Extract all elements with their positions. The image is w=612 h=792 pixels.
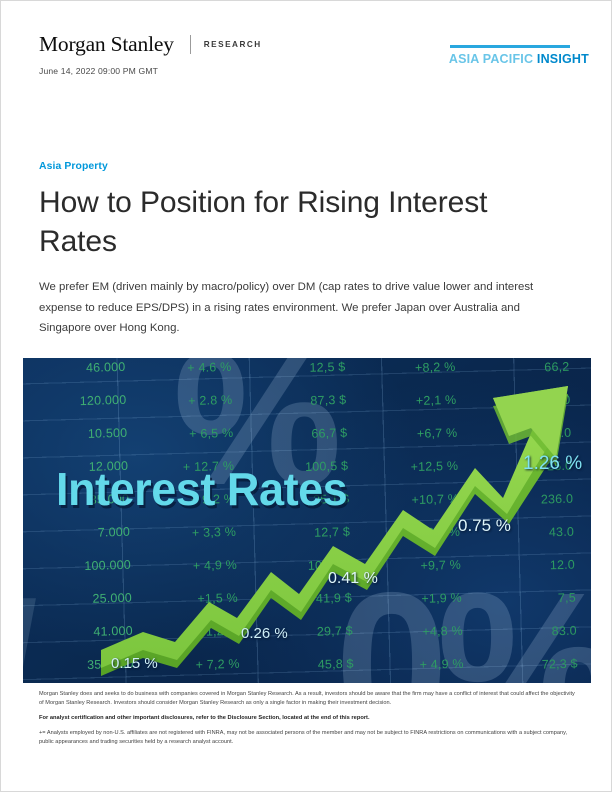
title-block: Asia Property How to Position for Rising…	[39, 161, 571, 338]
abstract-summary: We prefer EM (driven mainly by macro/pol…	[39, 277, 567, 338]
hero-headline: Interest Rates	[56, 466, 347, 512]
insight-label-region: ASIA PACIFIC	[449, 52, 533, 66]
publish-date: June 14, 2022 09:00 PM GMT	[39, 66, 589, 76]
rate-label-1-26: 1.26 %	[523, 453, 582, 475]
disclaimer-paragraph-1: Morgan Stanley does and seeks to do busi…	[39, 690, 579, 708]
rate-label-0-15: 0.15 %	[111, 655, 158, 672]
report-cover-page: Morgan Stanley RESEARCH June 14, 2022 09…	[0, 0, 612, 792]
rate-label-0-75: 0.75 %	[458, 516, 511, 536]
sector-eyebrow: Asia Property	[39, 161, 571, 172]
insight-badge: ASIA PACIFIC INSIGHT	[449, 45, 589, 66]
insight-accent-bar	[450, 45, 570, 48]
rate-label-0-26: 0.26 %	[241, 625, 288, 642]
footer-disclaimer: Morgan Stanley does and seeks to do busi…	[39, 690, 579, 753]
brand-divider-rule	[190, 35, 191, 54]
hero-image: % / 0% 46.000120.00010.50012.00035.0007.…	[23, 358, 591, 683]
page-title: How to Position for Rising Interest Rate…	[39, 184, 559, 261]
brand-sub-label: RESEARCH	[204, 40, 262, 49]
disclaimer-analyst-certification: For analyst certification and other impo…	[39, 714, 579, 723]
rate-label-0-41: 0.41 %	[328, 570, 378, 588]
brand-name: Morgan Stanley	[39, 32, 174, 57]
insight-label-type: INSIGHT	[537, 52, 589, 66]
disclaimer-paragraph-2: += Analysts employed by non-U.S. affilia…	[39, 729, 579, 747]
insight-label: ASIA PACIFIC INSIGHT	[449, 52, 589, 66]
